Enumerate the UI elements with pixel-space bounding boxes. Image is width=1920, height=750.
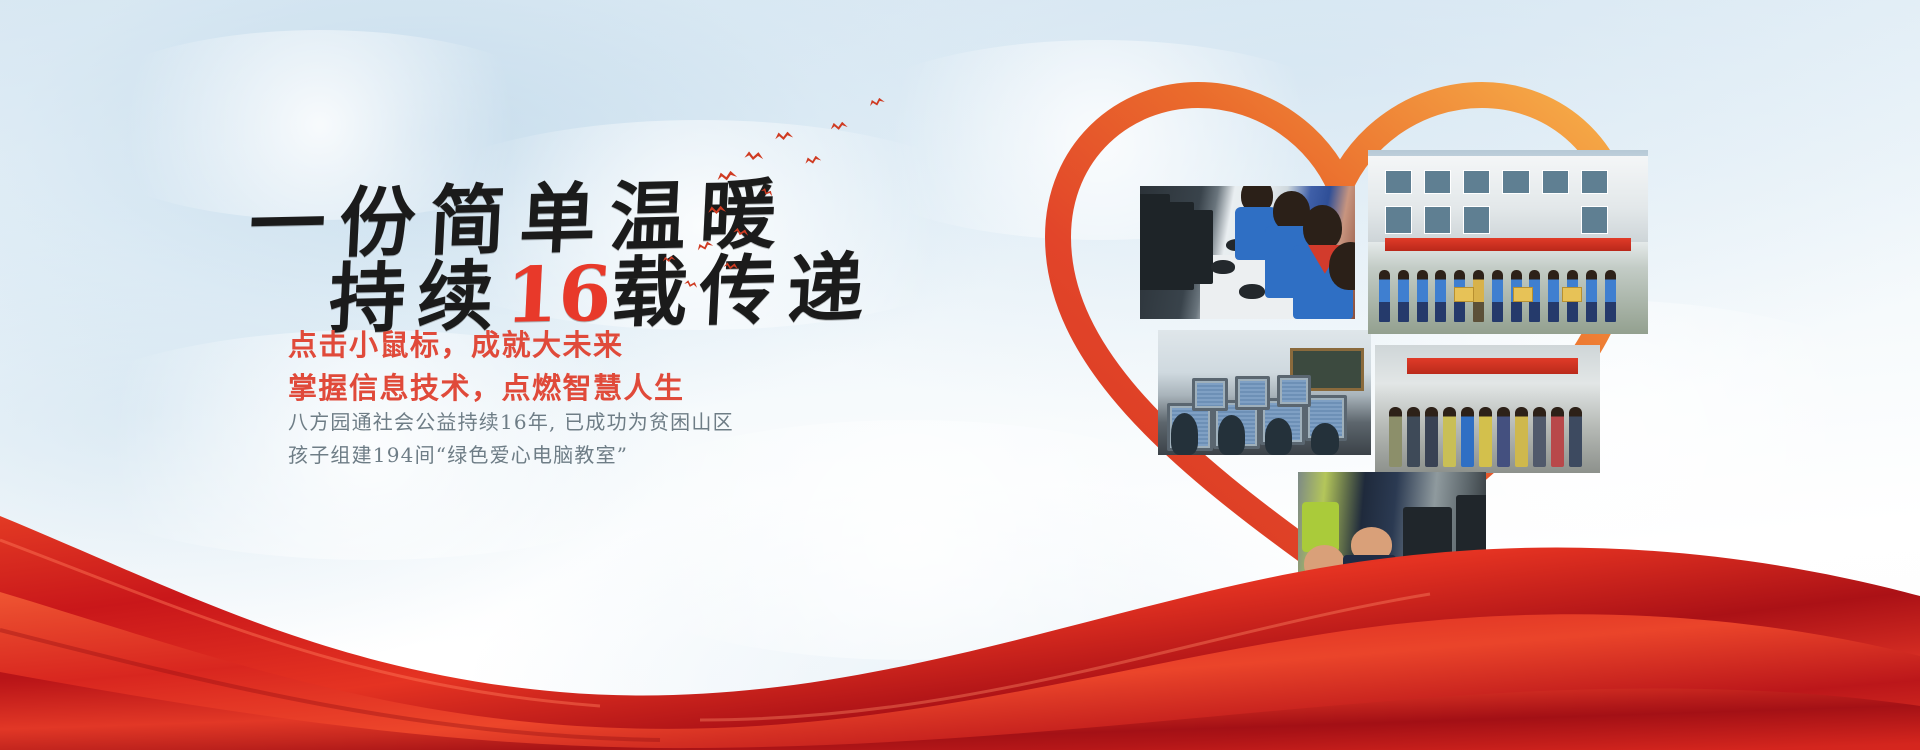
subheading-line-1: 点击小鼠标，成就大未来 <box>288 325 685 368</box>
red-silk-ribbon <box>0 420 1920 750</box>
ceremony-red-banner <box>1407 358 1578 374</box>
student-figure <box>1548 270 1559 322</box>
student-figure <box>1586 270 1597 322</box>
ceremony-red-banner <box>1385 238 1631 251</box>
window-shape <box>1424 206 1451 234</box>
bird-icon <box>744 151 764 162</box>
student-figure <box>1417 270 1428 322</box>
window-shape <box>1463 206 1490 234</box>
bird-icon <box>775 131 794 142</box>
window-shape <box>1385 170 1412 194</box>
student-figure <box>1605 270 1616 322</box>
student-figure <box>1492 270 1503 322</box>
bird-icon <box>804 155 822 166</box>
window-shape <box>1542 170 1569 194</box>
window-shape <box>1424 170 1451 194</box>
photo-lab-row <box>1140 186 1355 319</box>
crt-monitor <box>1277 375 1311 407</box>
bird-icon <box>723 262 738 271</box>
subheading-line-2: 掌握信息技术，点燃智慧人生 <box>288 368 685 411</box>
mouse-shape <box>1239 284 1265 299</box>
window-shape <box>1581 170 1608 194</box>
monitor-shape <box>1187 210 1213 284</box>
students-group-row <box>1374 264 1643 322</box>
school-building <box>1368 156 1648 242</box>
student-head <box>1303 205 1342 250</box>
crt-monitor <box>1192 378 1228 412</box>
bird-icon <box>760 187 774 198</box>
bird-icon <box>716 170 737 183</box>
bird-icon <box>708 205 727 215</box>
adult-figure <box>1473 270 1484 322</box>
window-shape <box>1581 206 1608 234</box>
student-figure <box>1379 270 1390 322</box>
window-shape <box>1463 170 1490 194</box>
student-figure <box>1435 270 1446 322</box>
flying-birds-icon <box>700 80 920 310</box>
photo-lab-row-image <box>1140 186 1355 319</box>
certificate-shape <box>1562 287 1582 302</box>
bird-icon <box>830 121 848 132</box>
crt-monitor <box>1235 376 1271 410</box>
student-figure <box>1398 270 1409 322</box>
bird-icon <box>869 97 886 109</box>
mouse-shape <box>1211 260 1235 273</box>
photo-school <box>1368 150 1648 334</box>
bird-icon <box>733 227 750 238</box>
charity-banner: 一份简单温暖 持续16载传递 点击小鼠标，成就大未来 掌握信息技术，点燃智慧人生… <box>0 0 1920 750</box>
photo-school-image <box>1368 150 1648 334</box>
subheading-block: 点击小鼠标，成就大未来 掌握信息技术，点燃智慧人生 <box>288 325 685 411</box>
certificate-shape <box>1454 287 1474 302</box>
window-shape <box>1502 170 1529 194</box>
certificate-shape <box>1513 287 1533 302</box>
window-shape <box>1385 206 1412 234</box>
